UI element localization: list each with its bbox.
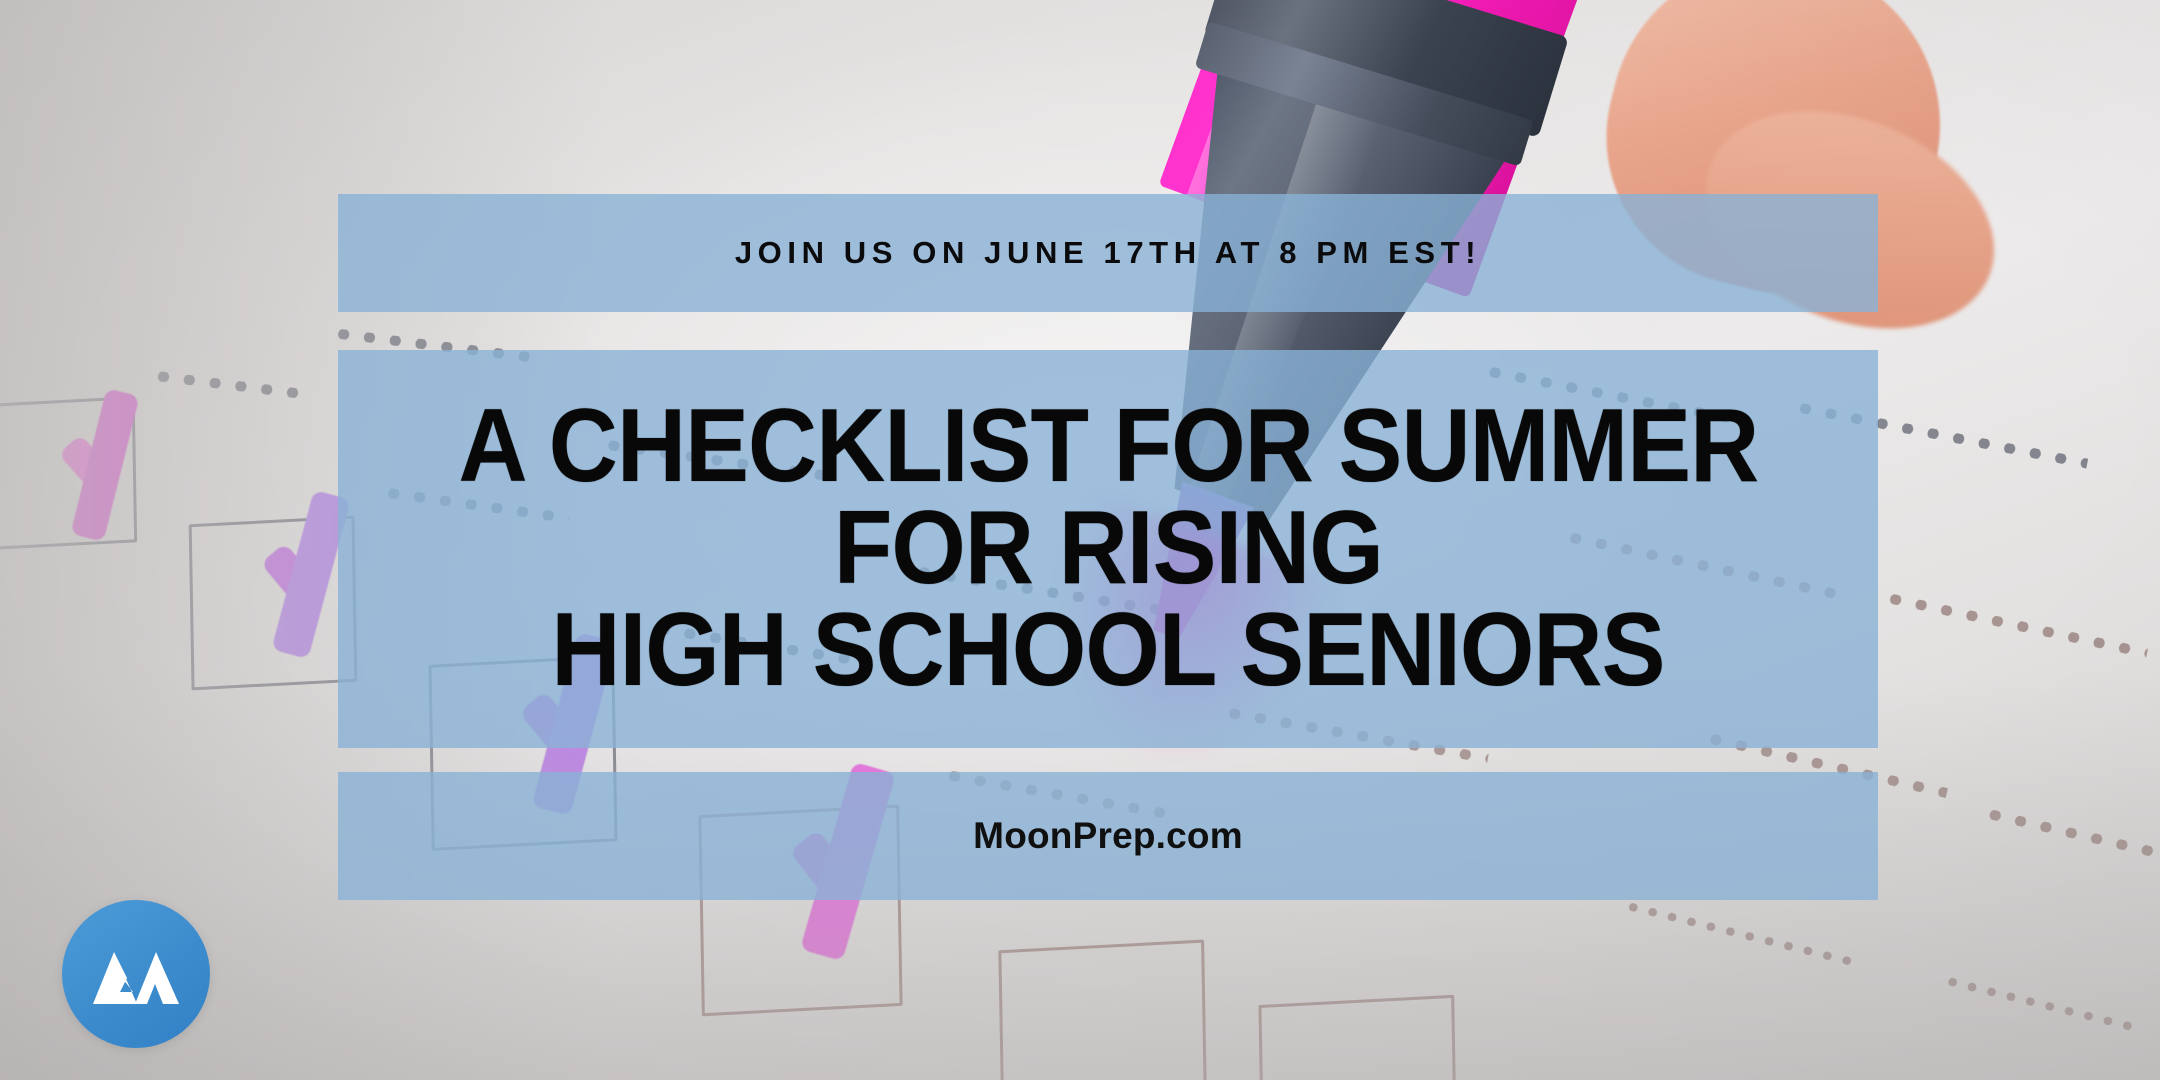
headline: A CHECKLIST FOR SUMMER FOR RISING HIGH S… — [338, 350, 1878, 748]
mountain-m-icon — [93, 944, 179, 1004]
website-url: MoonPrep.com — [338, 772, 1878, 900]
headline-line-2: FOR RISING — [834, 498, 1383, 600]
event-kicker: JOIN US ON JUNE 17TH AT 8 PM EST! — [338, 194, 1878, 312]
headline-line-3: HIGH SCHOOL SENIORS — [551, 600, 1664, 702]
promo-graphic: JOIN US ON JUNE 17TH AT 8 PM EST! A CHEC… — [0, 0, 2160, 1080]
moonprep-logo[interactable] — [62, 900, 210, 1048]
headline-line-1: A CHECKLIST FOR SUMMER — [458, 396, 1758, 498]
